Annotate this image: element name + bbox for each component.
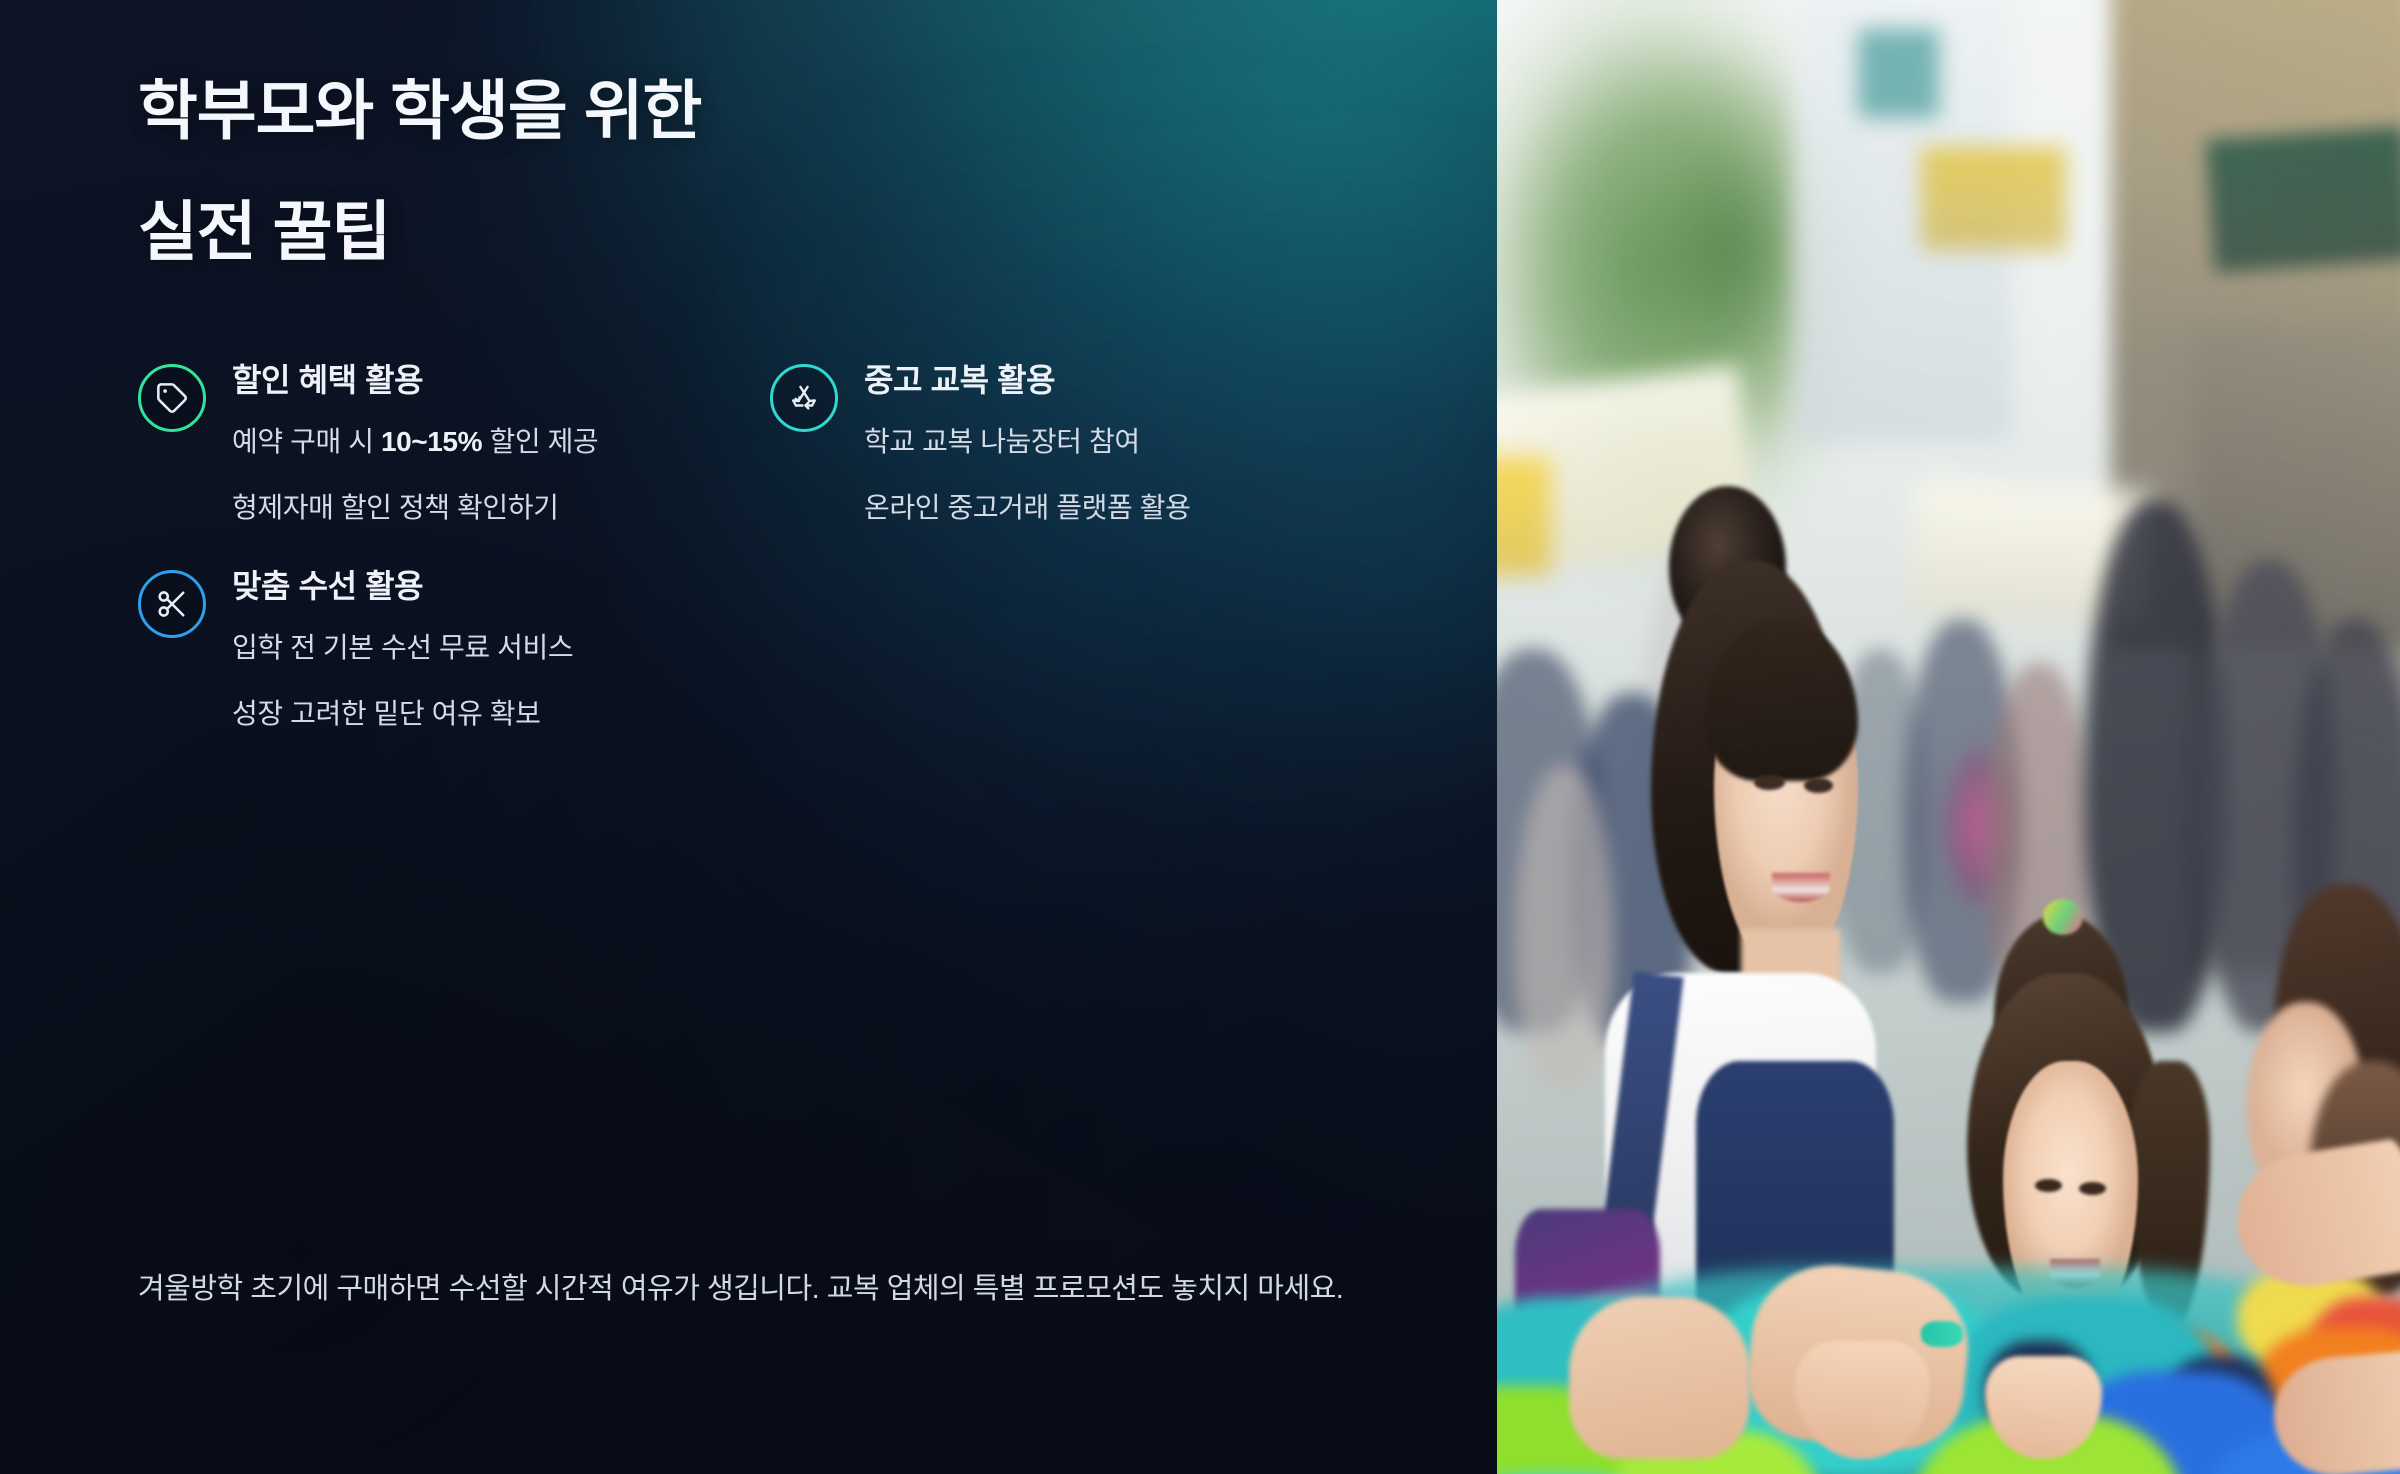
- left-content-panel: 학부모와 학생을 위한 실전 꿀팁 할인 혜택 활용 예약 구매 시 10~15…: [0, 0, 1497, 1474]
- content-wrapper: 학부모와 학생을 위한 실전 꿀팁 할인 혜택 활용 예약 구매 시 10~15…: [0, 0, 1497, 736]
- tip-title: 맞춤 수선 활용: [232, 568, 752, 605]
- tip-paragraph-2: 성장 고려한 밑단 여유 확보: [232, 693, 752, 736]
- tip-para-prefix: 예약 구매 시: [232, 426, 381, 457]
- tip-paragraph-1: 입학 전 기본 수선 무료 서비스: [232, 627, 752, 670]
- photo-sign-yellow: [1921, 147, 2065, 250]
- photo-umbrella-yellow: [1497, 457, 1551, 575]
- page-title: 학부모와 학생을 위한 실전 꿀팁: [0, 0, 1497, 264]
- scissors-icon: [138, 570, 206, 638]
- photo-mother-smile: [1772, 873, 1830, 902]
- photo-bracelet: [1921, 1321, 1963, 1348]
- tip-paragraph-2: 형제자매 할인 정책 확인하기: [232, 487, 682, 530]
- tips-grid: 할인 혜택 활용 예약 구매 시 10~15% 할인 제공 형제자매 할인 정책…: [0, 264, 1497, 736]
- tip-card-body: 할인 혜택 활용 예약 구매 시 10~15% 할인 제공 형제자매 할인 정책…: [232, 360, 682, 530]
- market-photo: [1497, 0, 2400, 1474]
- tip-paragraph-1: 학교 교복 나눔장터 참여: [864, 421, 1316, 464]
- tip-title: 중고 교복 활용: [864, 362, 1316, 399]
- tip-title: 할인 혜택 활용: [232, 362, 682, 399]
- slide-root: 학부모와 학생을 위한 실전 꿀팁 할인 혜택 활용 예약 구매 시 10~15…: [0, 0, 2400, 1474]
- title-line-2: 실전 꿀팁: [138, 199, 1497, 264]
- recycle-icon: [770, 364, 838, 432]
- tip-card-discount[interactable]: 할인 혜택 활용 예약 구매 시 10~15% 할인 제공 형제자매 할인 정책…: [138, 360, 770, 530]
- tag-icon: [138, 364, 206, 432]
- photo-girl-hair-tie: [2043, 899, 2083, 934]
- footnote-text: 겨울방학 초기에 구매하면 수선할 시간적 여유가 생깁니다. 교복 업체의 특…: [138, 1267, 1360, 1311]
- tip-paragraph-2: 온라인 중고거래 플랫폼 활용: [864, 487, 1316, 530]
- photo-mother-arm-left: [1569, 1297, 1750, 1459]
- photo-mother-eye: [1754, 775, 1785, 790]
- title-line-1: 학부모와 학생을 위한: [138, 78, 1497, 143]
- photo-awning-right: [2206, 126, 2400, 272]
- tip-card-alteration[interactable]: 맞춤 수선 활용 입학 전 기본 수선 무료 서비스 성장 고려한 밑단 여유 …: [138, 566, 770, 736]
- tip-paragraph-1: 예약 구매 시 10~15% 할인 제공: [232, 421, 682, 464]
- tip-card-body: 중고 교복 활용 학교 교복 나눔장터 참여 온라인 중고거래 플랫폼 활용: [864, 360, 1316, 530]
- photo-mother-eye: [1804, 778, 1833, 793]
- tip-para-suffix: 할인 제공: [482, 426, 598, 457]
- tip-card-body: 맞춤 수선 활용 입학 전 기본 수선 무료 서비스 성장 고려한 밑단 여유 …: [232, 566, 752, 736]
- photo-sign-teal: [1858, 29, 1939, 117]
- tip-para-highlight: 10~15%: [381, 426, 482, 457]
- photo-crowd-figure: [1515, 766, 1614, 1090]
- tip-card-secondhand[interactable]: 중고 교복 활용 학교 교복 나눔장터 참여 온라인 중고거래 플랫폼 활용: [770, 360, 1430, 530]
